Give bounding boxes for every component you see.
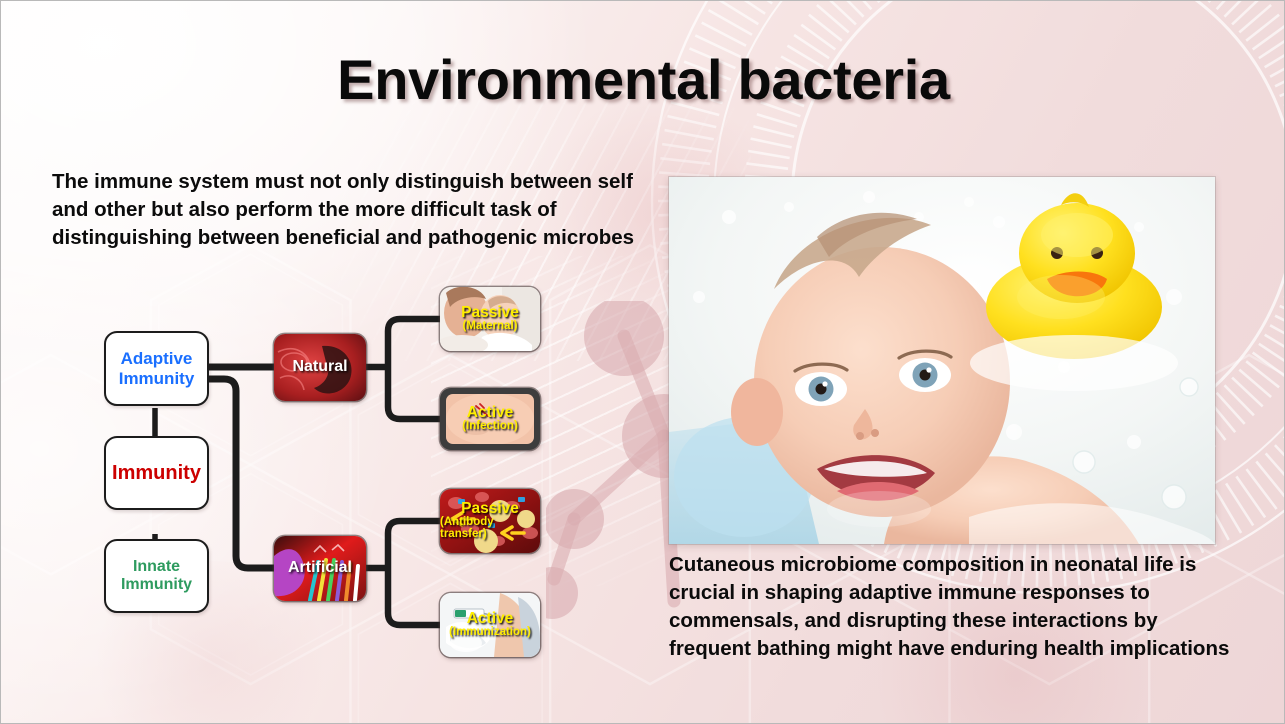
node-innate-immunity[interactable]: Innate Immunity [104,539,209,613]
baby-bath-photo [669,177,1215,544]
node-immunity[interactable]: Immunity [104,436,209,510]
node-natural-active[interactable]: Active (Infection) [440,388,540,450]
lead-paragraph: The immune system must not only distingu… [52,168,658,252]
node-artificial-active[interactable]: Active (Immunization) [440,593,540,657]
slide: Environmental bacteria The immune system… [0,0,1285,724]
photo-caption: Cutaneous microbiome composition in neon… [669,551,1241,663]
node-immunity-label: Immunity [112,462,201,485]
node-artificial-passive[interactable]: Passive (Antibody transfer) [440,489,540,553]
node-innate-immunity-line1: Innate [133,558,180,575]
node-innate-immunity-line2: Immunity [121,576,192,593]
node-artificial[interactable]: Artificial [274,536,366,601]
slide-title: Environmental bacteria [1,47,1285,112]
node-adaptive-immunity-line1: Adaptive [121,349,193,368]
natural-thumbnail-womb [274,334,366,401]
node-adaptive-immunity[interactable]: Adaptive Immunity [104,331,209,406]
node-adaptive-immunity-line2: Immunity [119,369,195,388]
antibody-transfer-thumbnail-bloodstream [440,489,540,553]
infection-thumbnail-cut-finger [446,394,534,444]
node-natural-passive[interactable]: Passive (Maternal) [440,287,540,351]
maternal-thumbnail-mother-and-baby [440,287,540,351]
node-natural[interactable]: Natural [274,334,366,401]
artificial-thumbnail-syringes [274,536,366,601]
immunity-classification-diagram: Adaptive Immunity Immunity Innate Immuni… [96,271,666,671]
immunization-thumbnail-vaccination [440,593,540,657]
